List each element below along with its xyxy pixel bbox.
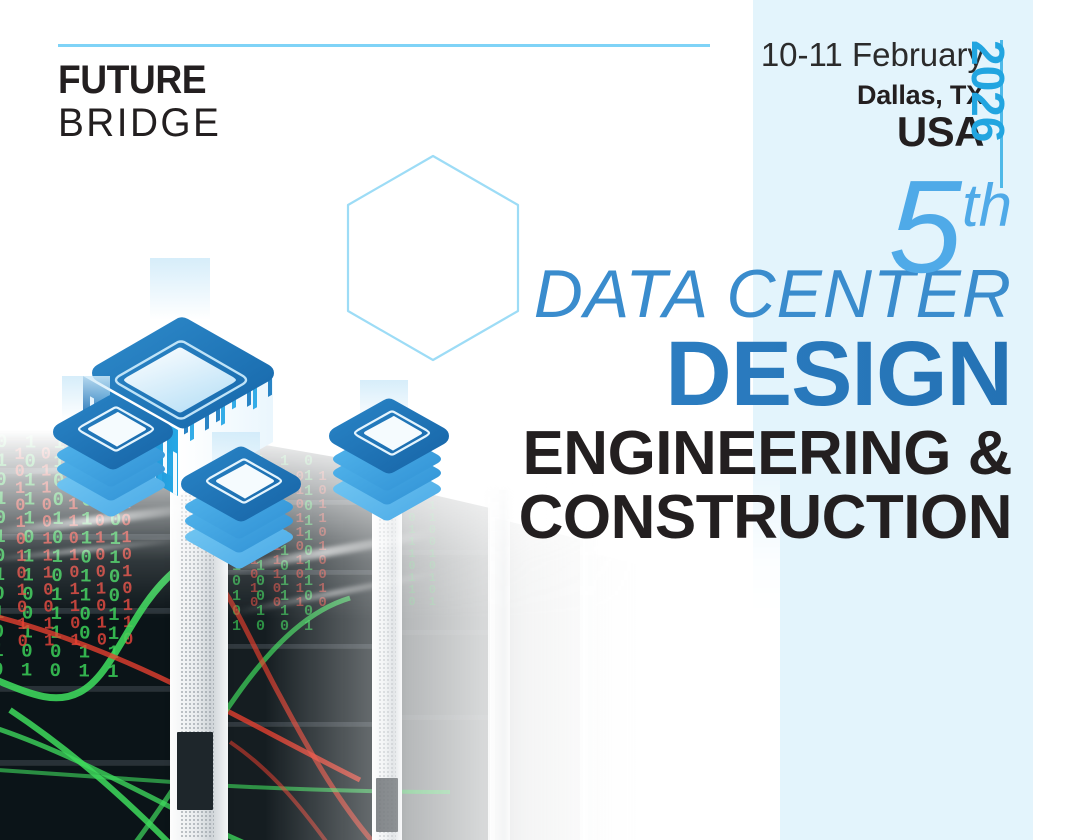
headline-construction: CONSTRUCTION xyxy=(292,487,1012,549)
top-divider-rule xyxy=(58,44,710,47)
event-banner: 0 1 1 0 1 1 0 1 1 0 0 1 0 1 1 1 1 0 0 1 … xyxy=(0,0,1080,840)
event-dates: 10-11 February xyxy=(761,34,984,75)
headline-engineering: ENGINEERING & xyxy=(292,423,1012,485)
event-country: USA xyxy=(761,110,984,154)
rack-pillar xyxy=(580,530,596,840)
event-date-location-block: 10-11 February Dallas, TX USA xyxy=(761,34,984,154)
edition-line: 5 th xyxy=(292,170,1012,278)
headline-design: DESIGN xyxy=(292,329,1012,419)
rack-panel-box xyxy=(376,778,398,832)
rack-panel-box xyxy=(177,732,213,810)
rack-pillar xyxy=(654,568,666,840)
event-headline: 5 th DATA CENTER DESIGN ENGINEERING & CO… xyxy=(292,170,1012,549)
event-city: Dallas, TX xyxy=(761,79,984,111)
futurebridge-logo[interactable]: FUTURE BRIDGE xyxy=(58,60,226,144)
rack-bay xyxy=(588,552,658,840)
logo-line-future: FUTURE xyxy=(58,60,215,101)
edition-wrap: 5 th xyxy=(292,170,1012,284)
event-year: 2026 xyxy=(965,40,1011,190)
logo-line-bridge: BRIDGE xyxy=(58,102,221,144)
edition-number: 5 xyxy=(889,170,960,284)
